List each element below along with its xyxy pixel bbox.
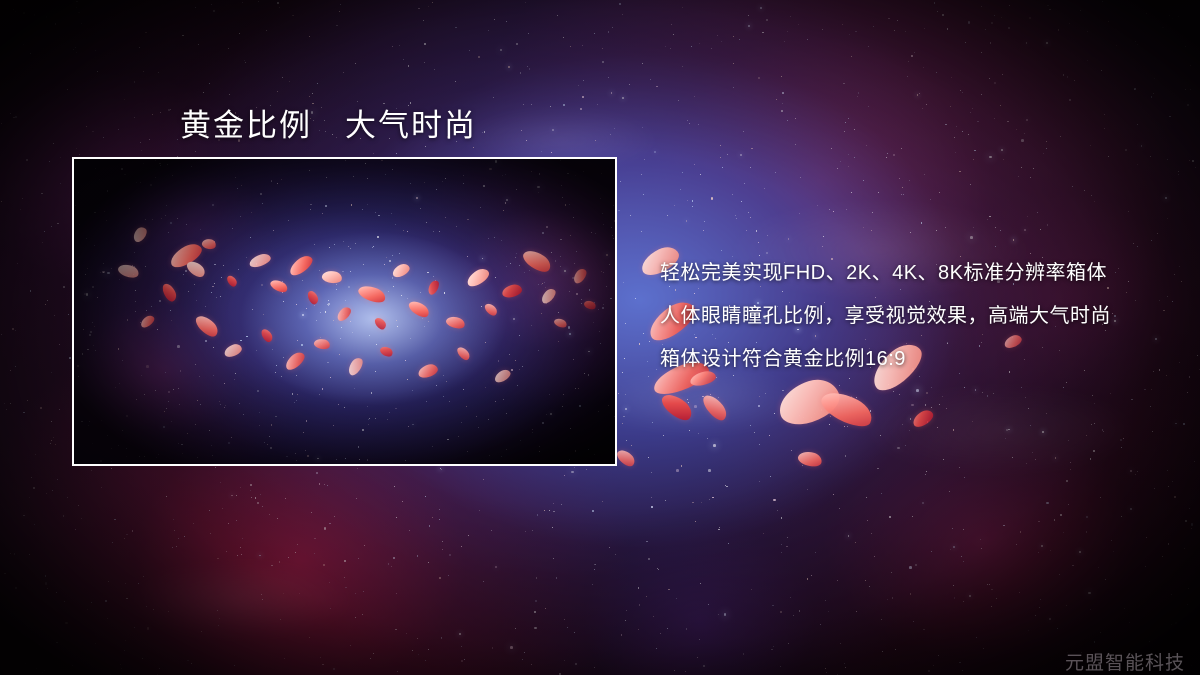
page-title: 黄金比例 大气时尚 <box>180 100 477 145</box>
body-text-block: 轻松完美实现FHD、2K、4K、8K标准分辨率箱体 人体眼睛瞳孔比例，享受视觉效… <box>660 252 1160 381</box>
panel-vignette <box>74 159 615 464</box>
framed-image-panel <box>72 157 617 466</box>
presentation-slide: 黄金比例 大气时尚 轻松完美实现FHD、2K、4K、8K标准分辨率箱体 人体眼睛… <box>0 0 1200 675</box>
watermark: 元盟智能科技 <box>1065 648 1185 675</box>
body-line: 轻松完美实现FHD、2K、4K、8K标准分辨率箱体 <box>660 252 1160 295</box>
body-line: 人体眼睛瞳孔比例，享受视觉效果，高端大气时尚 <box>660 295 1160 338</box>
body-line: 箱体设计符合黄金比例16:9 <box>660 338 1160 381</box>
